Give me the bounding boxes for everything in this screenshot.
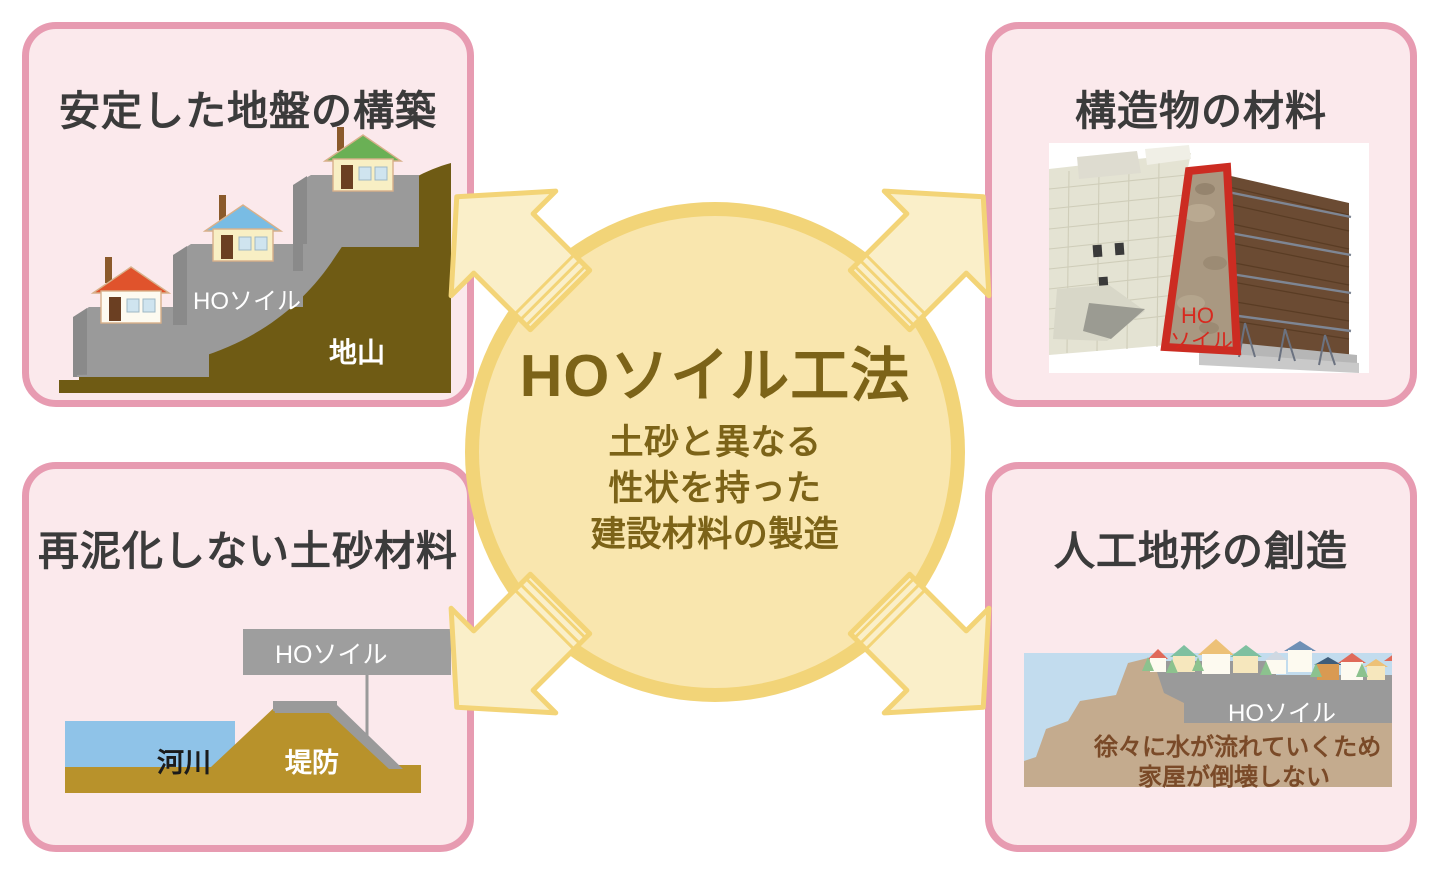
natural-ground-label: 地山 bbox=[329, 331, 385, 371]
ho-soil-label-br: HOソイル bbox=[1228, 693, 1336, 728]
ho-soil-callout-bl: HOソイル bbox=[275, 635, 388, 671]
diagram-canvas: 安定した地盤の構築 bbox=[0, 0, 1440, 875]
house-red bbox=[93, 257, 169, 323]
card-artificial-terrain[interactable]: 人工地形の創造 bbox=[985, 462, 1417, 852]
center-title: HOソイル工法 bbox=[520, 346, 911, 408]
river-levee-illustration bbox=[45, 617, 465, 817]
ho-soil-label-tl: HOソイル bbox=[193, 281, 301, 316]
terraced-slope-illustration bbox=[59, 125, 451, 395]
center-subtitle-line-2: 性状を持った bbox=[608, 466, 821, 512]
house-blue bbox=[205, 195, 281, 261]
circle-text-block: HOソイル工法 土砂と異なる 性状を持った 建設材料の製造 bbox=[465, 202, 965, 702]
card-title-artificial-terrain: 人工地形の創造 bbox=[992, 517, 1410, 577]
card-structure-material[interactable]: 構造物の材料 bbox=[985, 22, 1417, 407]
center-subtitle-line-1: 土砂と異なる bbox=[608, 420, 821, 466]
card-non-remuddling-soil[interactable]: 再泥化しない土砂材料 HOソイル 河川 堤防 bbox=[22, 462, 474, 852]
levee-label: 堤防 bbox=[285, 741, 339, 780]
soil-label-tr: ソイル bbox=[1170, 325, 1233, 355]
river-label: 河川 bbox=[157, 741, 211, 780]
card-stable-ground[interactable]: 安定した地盤の構築 bbox=[22, 22, 474, 407]
benefit-line-2: 家屋が倒壊しない bbox=[1138, 757, 1330, 792]
center-circle[interactable]: HOソイル工法 土砂と異なる 性状を持った 建設材料の製造 bbox=[465, 202, 965, 702]
card-title-non-remuddling-soil: 再泥化しない土砂材料 bbox=[29, 517, 467, 577]
center-subtitle-line-3: 建設材料の製造 bbox=[591, 512, 840, 558]
card-title-structure-material: 構造物の材料 bbox=[992, 77, 1410, 137]
house-green bbox=[325, 127, 401, 191]
